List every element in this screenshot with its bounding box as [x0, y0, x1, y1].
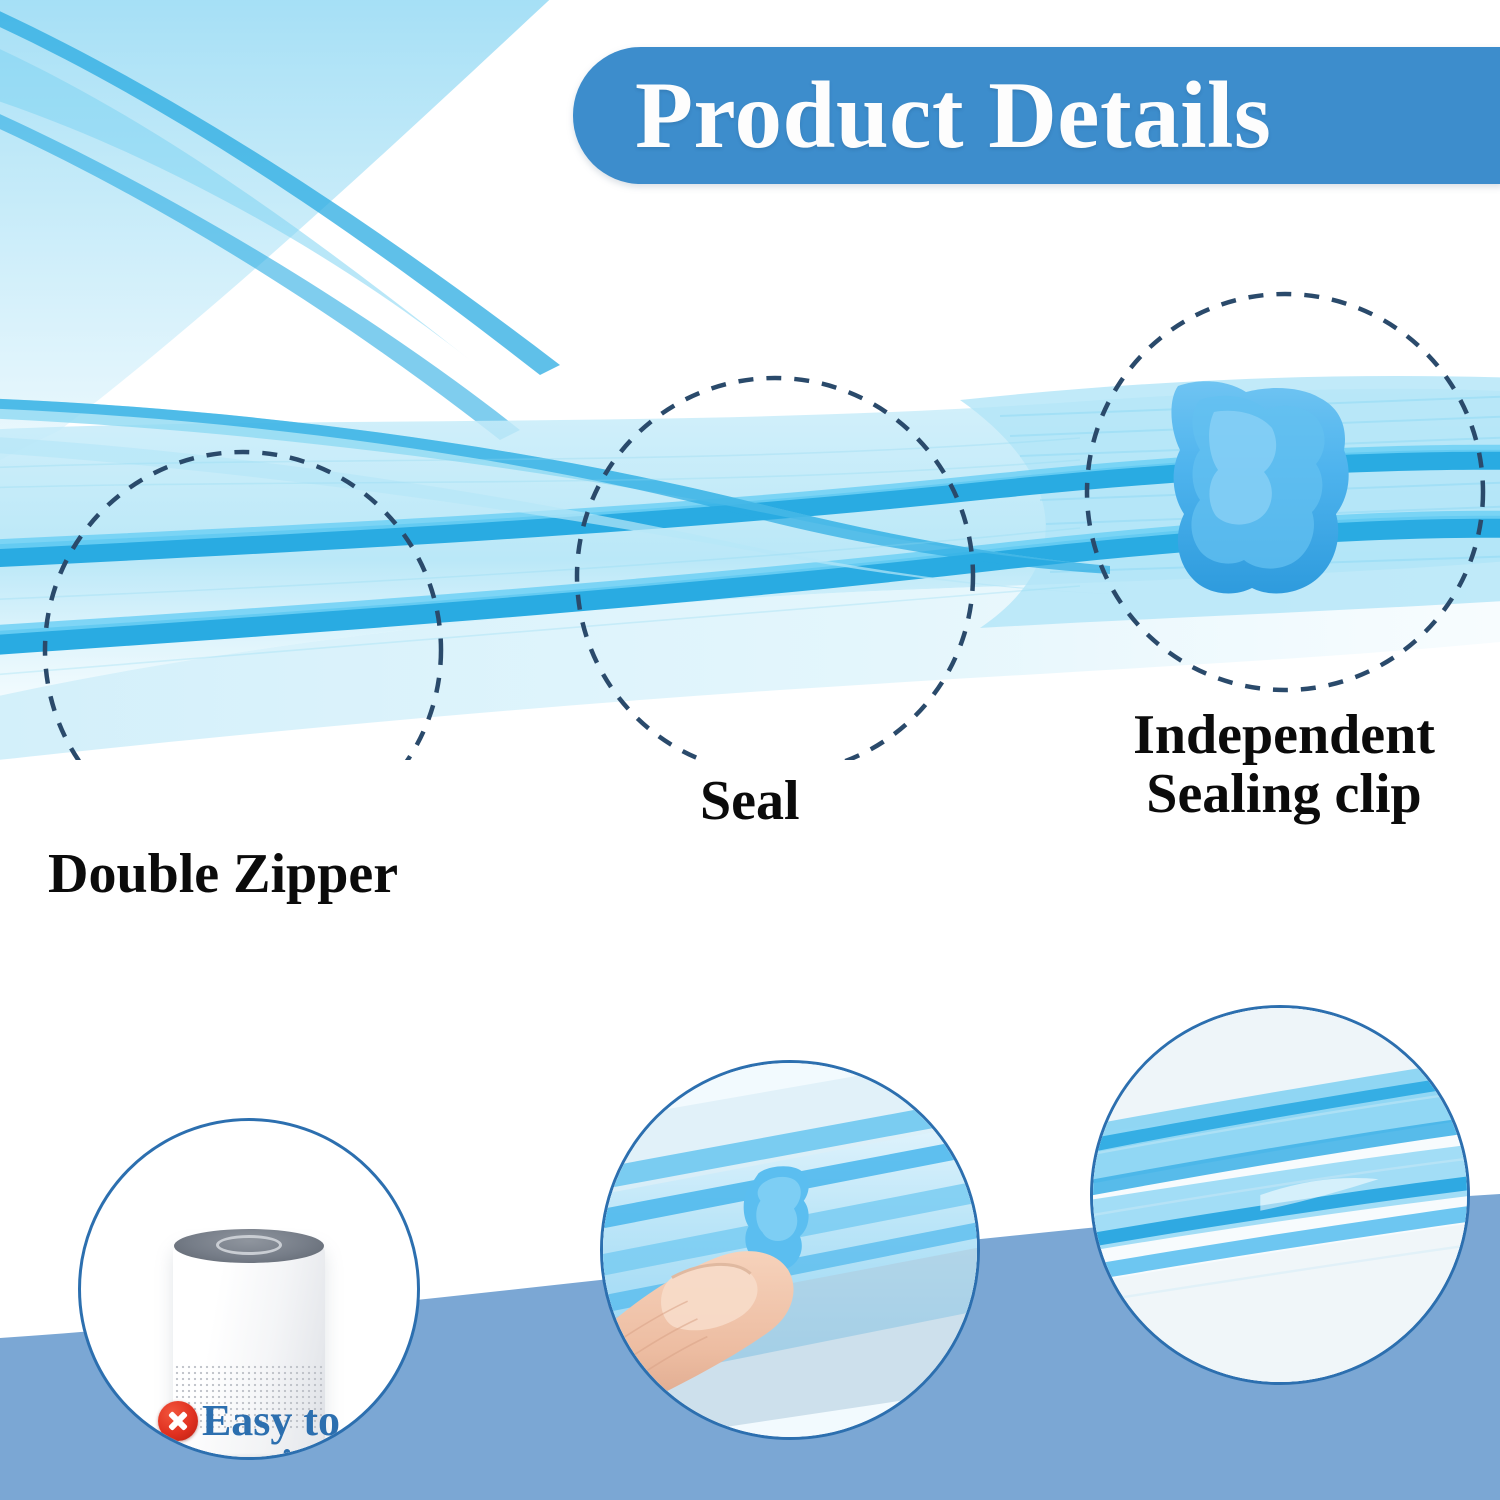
detail-circle-zipper-closeup [1090, 1005, 1470, 1385]
pump-power-button-icon [216, 1235, 282, 1255]
red-x-icon [158, 1401, 198, 1441]
callout-label-sealing-clip: Independent Sealing clip [1098, 706, 1470, 824]
clip-slide-illustration [603, 1063, 977, 1437]
badge-line-1: Easy to [202, 1399, 340, 1444]
pump-illustration: Easy to operation [81, 1121, 417, 1457]
sealing-clip-graphic [1171, 381, 1348, 593]
detail-circle-clip-slide [600, 1060, 980, 1440]
product-details-infographic: Product Details Double Zipper Seal Indep… [0, 0, 1500, 1500]
callout-label-seal: Seal [700, 772, 800, 831]
status-badge: Easy to operation [81, 1399, 417, 1460]
detail-circle-pump: Easy to operation [78, 1118, 420, 1460]
page-title-banner: Product Details [573, 47, 1500, 184]
page-title: Product Details [635, 68, 1271, 163]
callout-label-double-zipper: Double Zipper [48, 845, 398, 904]
zipper-closeup-illustration [1093, 1008, 1467, 1382]
